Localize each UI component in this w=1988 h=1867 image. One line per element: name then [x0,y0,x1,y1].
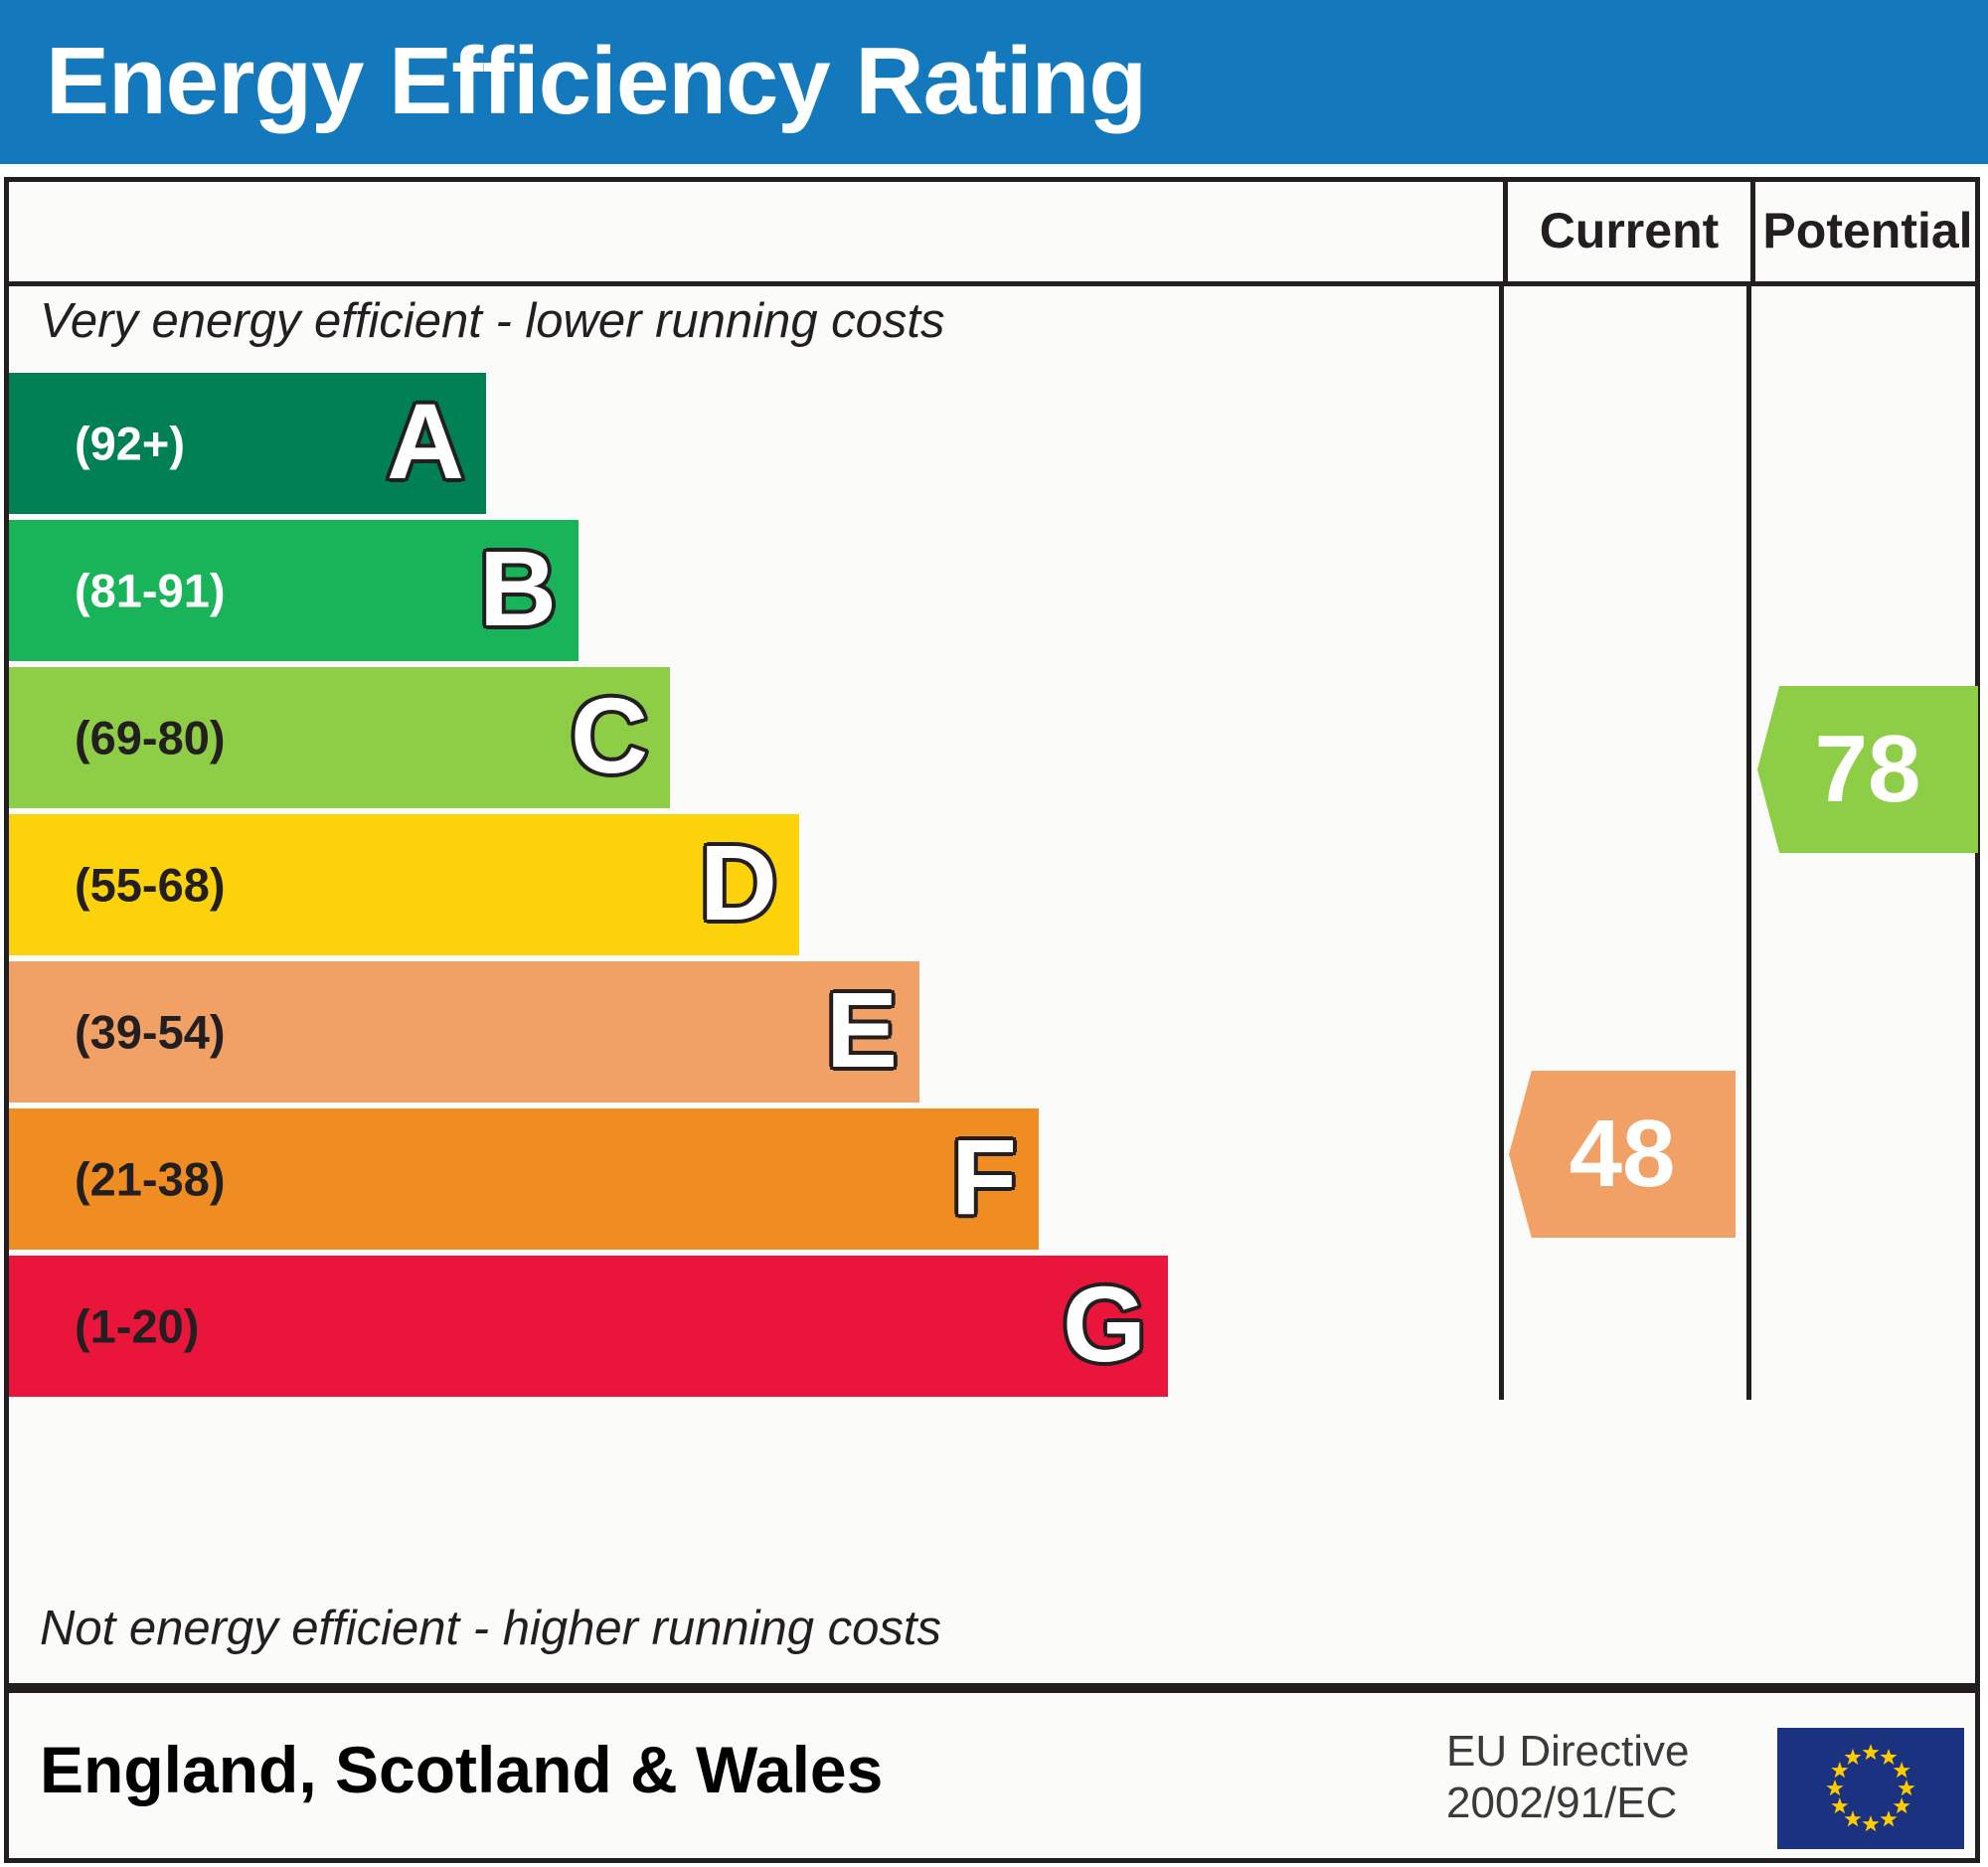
rating-badge-current: 48 [1509,1071,1736,1238]
rating-band-f: (21-38)F [9,1108,1039,1250]
page-title: Energy Efficiency Rating [46,22,1146,141]
caption-efficient: Very energy efficient - lower running co… [40,293,945,349]
rating-value-current: 48 [1570,1100,1676,1209]
band-letter-c: C [571,682,648,789]
title-bar: Energy Efficiency Rating [0,0,1988,164]
rating-band-a: (92+)A [9,373,486,514]
rating-badge-potential: 78 [1757,686,1978,853]
band-letter-d: D [700,829,777,936]
rating-band-b: (81-91)B [9,520,579,661]
rating-band-c: (69-80)C [9,667,670,808]
column-rule-potential [1746,286,1751,1400]
band-letter-e: E [826,976,898,1084]
column-header-current: Current [1503,177,1750,284]
band-range-f: (21-38) [75,1152,226,1207]
band-range-b: (81-91) [75,564,226,618]
band-range-a: (92+) [75,417,185,471]
eu-flag-icon [1777,1728,1964,1849]
band-letter-g: G [1063,1271,1146,1378]
band-letter-f: F [951,1123,1017,1231]
epc-certificate-chart: Energy Efficiency Rating Current Potenti… [0,0,1988,1867]
band-range-e: (39-54) [75,1005,226,1060]
rating-value-potential: 78 [1815,715,1921,824]
rating-band-g: (1-20)G [9,1256,1168,1397]
caption-inefficient: Not energy efficient - higher running co… [40,1601,941,1656]
column-header-potential: Potential [1750,177,1980,284]
eu-directive-line2: 2002/91/EC [1446,1778,1690,1829]
column-header-row: Current Potential [4,177,1980,284]
band-range-g: (1-20) [75,1299,199,1354]
band-range-c: (69-80) [75,711,226,765]
band-range-d: (55-68) [75,858,226,913]
footer-region-label: England, Scotland & Wales [40,1732,883,1807]
rating-band-d: (55-68)D [9,814,799,955]
rating-band-e: (39-54)E [9,961,919,1103]
band-letter-b: B [479,535,557,642]
header-divider [4,281,1980,286]
band-letter-a: A [387,388,464,495]
eu-directive-line1: EU Directive [1446,1726,1690,1778]
rating-band-list: (92+)A(81-91)B(69-80)C(55-68)D(39-54)E(2… [9,373,1500,1397]
eu-directive-label: EU Directive 2002/91/EC [1446,1726,1690,1829]
